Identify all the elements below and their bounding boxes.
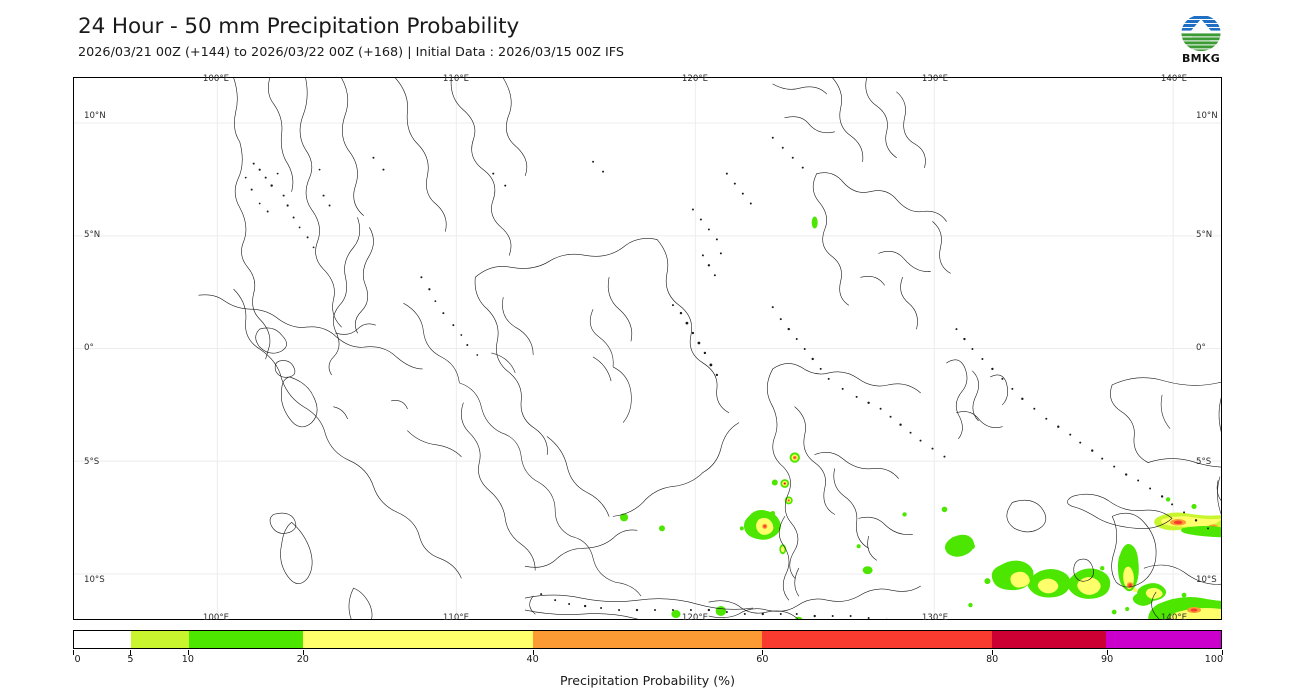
axis-label-lon-bottom-0: 100°E — [203, 613, 229, 623]
colorbar-tick-label-80: 80 — [986, 654, 998, 665]
colorbar-tick-label-20: 20 — [297, 654, 309, 665]
axis-label-lat-right-3: 5°S — [1196, 457, 1211, 467]
axis-label-lat-left-2: 0° — [84, 343, 94, 353]
colorbar-segment-0-5 — [74, 631, 131, 648]
colorbar-tick-label-0: 0 — [75, 654, 81, 665]
axis-label-lat-left-3: 5°S — [84, 457, 99, 467]
precipitation-field — [620, 216, 1221, 619]
axis-label-lon-bottom-3: 130°E — [922, 613, 948, 623]
map-canvas — [74, 78, 1221, 619]
colorbar-segment-60-80 — [762, 631, 991, 648]
colorbar-tick-label-100: 100 — [1205, 654, 1223, 665]
map-plot-area[interactable] — [73, 77, 1222, 620]
page-title: 24 Hour - 50 mm Precipitation Probabilit… — [78, 14, 624, 39]
bmkg-logo-text: BMKG — [1172, 52, 1230, 65]
colorbar-segment-90-100 — [1106, 631, 1221, 648]
precip-seram-band — [1154, 497, 1221, 547]
axis-label-lat-left-4: 10°S — [84, 575, 105, 585]
axis-label-lon-top-4: 140°E — [1161, 74, 1187, 84]
colorbar: 0 5 10 20 40 60 80 90 100 Precipitation … — [73, 630, 1222, 688]
axis-label-lon-top-2: 120°E — [682, 74, 708, 84]
gridlines — [74, 78, 1221, 619]
precip-arafura — [1030, 593, 1221, 619]
colorbar-tick-label-10: 10 — [182, 654, 194, 665]
bmkg-logo: BMKG — [1172, 14, 1230, 66]
axis-label-lon-bottom-2: 120°E — [682, 613, 708, 623]
axis-label-lon-bottom-1: 110°E — [443, 613, 469, 623]
colorbar-tick-label-60: 60 — [756, 654, 768, 665]
header: 24 Hour - 50 mm Precipitation Probabilit… — [78, 14, 624, 60]
axis-label-lon-top-0: 100°E — [203, 74, 229, 84]
axis-label-lon-bottom-4: 140°E — [1161, 613, 1187, 623]
colorbar-segment-20-40 — [303, 631, 532, 648]
axis-label-lat-right-1: 5°N — [1196, 230, 1212, 240]
axis-label-lat-right-4: 10°S — [1196, 575, 1217, 585]
colorbar-gradient[interactable] — [73, 630, 1222, 649]
bmkg-logo-mark — [1172, 14, 1230, 54]
precip-banda-sea — [620, 507, 947, 575]
axis-label-lat-left-1: 5°N — [84, 230, 100, 240]
colorbar-segment-10-20 — [189, 631, 304, 648]
colorbar-segment-40-60 — [533, 631, 762, 648]
colorbar-tick-label-40: 40 — [526, 654, 538, 665]
colorbar-tick-label-5: 5 — [127, 654, 133, 665]
precip-sulawesi — [740, 452, 800, 554]
colorbar-tick-label-90: 90 — [1101, 654, 1113, 665]
map-vector-layer — [74, 78, 1221, 619]
colorbar-axis-label: Precipitation Probability (%) — [73, 673, 1222, 688]
axis-label-lon-top-3: 130°E — [922, 74, 948, 84]
axis-label-lat-right-0: 10°N — [1196, 111, 1218, 121]
axis-label-lon-top-1: 110°E — [443, 74, 469, 84]
colorbar-ticks: 0 5 10 20 40 60 80 90 100 — [73, 650, 1222, 667]
axis-label-lat-right-2: 0° — [1196, 343, 1206, 353]
island-specks — [245, 137, 1209, 619]
page-subtitle: 2026/03/21 00Z (+144) to 2026/03/22 00Z … — [78, 45, 624, 60]
weather-map-page: 24 Hour - 50 mm Precipitation Probabilit… — [0, 0, 1300, 700]
axis-label-lat-left-0: 10°N — [84, 111, 106, 121]
colorbar-segment-80-90 — [992, 631, 1107, 648]
colorbar-segment-5-10 — [131, 631, 188, 648]
